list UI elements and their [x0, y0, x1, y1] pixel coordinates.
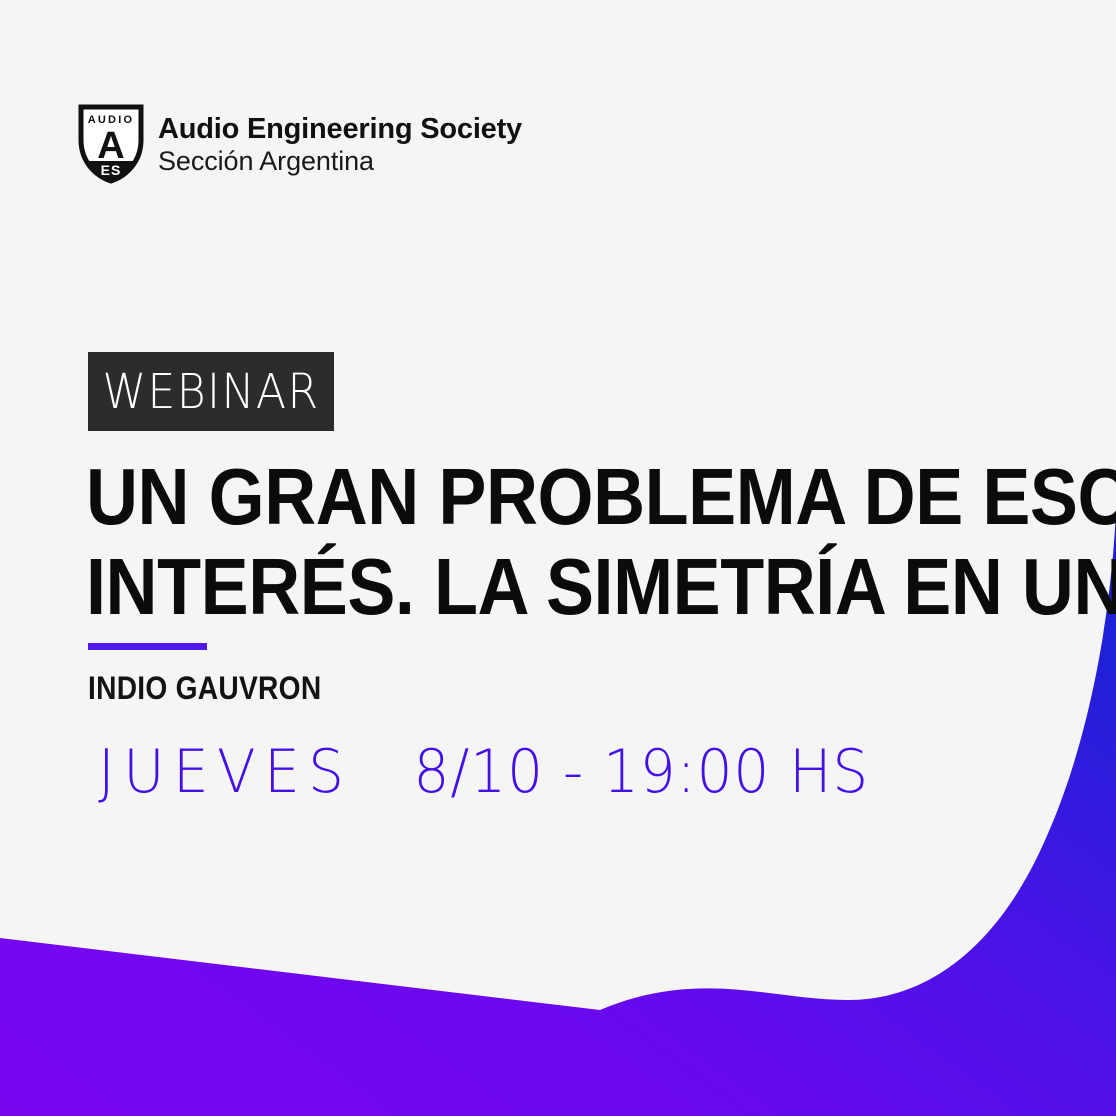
headline-line-2: INTERÉS. LA SIMETRÍA EN UN CONTROL	[86, 542, 968, 632]
webinar-tag-label: WEBINAR	[102, 368, 319, 416]
aes-shield-icon: AUDIO A ES	[78, 104, 144, 184]
headline: UN GRAN PROBLEMA DE ESCASO INTERÉS. LA S…	[86, 452, 1066, 632]
chapter-name: Sección Argentina	[158, 146, 522, 176]
datetime-when: 8/10 - 19:00 HS	[413, 742, 869, 802]
webinar-tag: WEBINAR	[88, 352, 334, 431]
svg-text:A: A	[97, 125, 124, 167]
datetime-line: JUEVES 8/10 - 19:00 HS	[90, 742, 883, 802]
datetime-day: JUEVES	[98, 742, 352, 802]
svg-text:ES: ES	[101, 162, 122, 178]
headline-line-1: UN GRAN PROBLEMA DE ESCASO	[86, 452, 968, 542]
org-name: Audio Engineering Society	[158, 114, 522, 145]
speaker-name: INDIO GAUVRON	[88, 670, 321, 707]
webinar-poster: AUDIO A ES Audio Engineering Society Sec…	[0, 0, 1116, 1116]
aes-logo-lockup: AUDIO A ES Audio Engineering Society Sec…	[78, 104, 522, 184]
logo-wordmark: Audio Engineering Society Sección Argent…	[158, 112, 522, 176]
accent-divider	[88, 643, 207, 650]
